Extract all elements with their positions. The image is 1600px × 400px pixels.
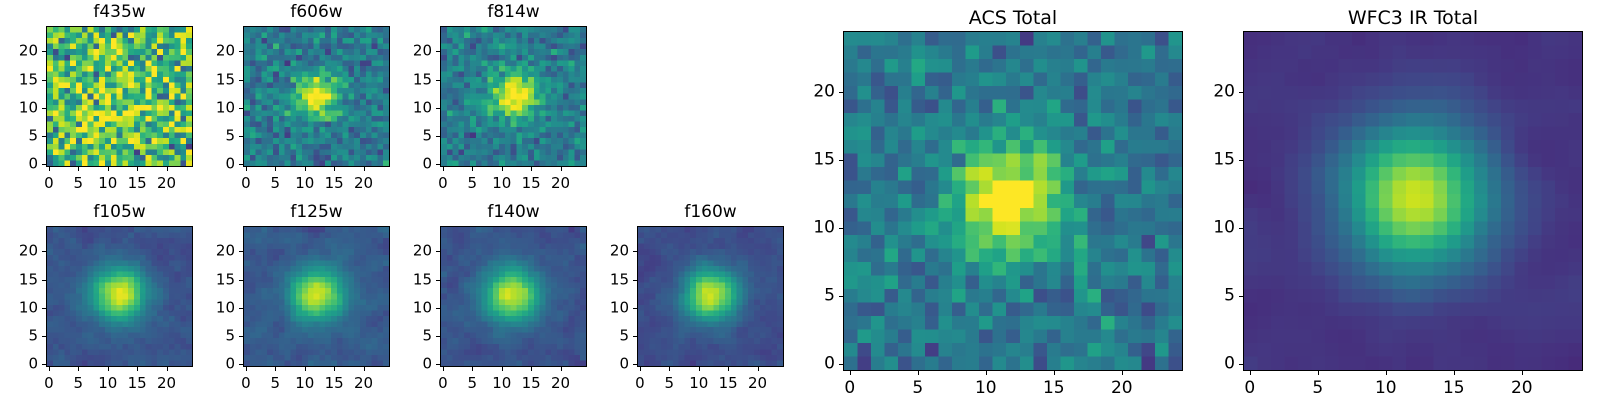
xtick-mark bbox=[728, 367, 729, 371]
xtick-mark bbox=[49, 367, 50, 371]
xtick-label: 20 bbox=[157, 176, 176, 191]
xtick-mark bbox=[1386, 371, 1387, 375]
ytick-mark bbox=[633, 308, 637, 309]
xtick-label: 10 bbox=[492, 376, 511, 391]
panel-title-f140w: f140w bbox=[440, 204, 587, 221]
xtick-label: 0 bbox=[44, 376, 54, 391]
xtick-label: 10 bbox=[492, 176, 511, 191]
ytick-mark bbox=[239, 164, 243, 165]
ytick-label: 0 bbox=[225, 357, 235, 372]
ytick-mark bbox=[42, 80, 46, 81]
ytick-label: 20 bbox=[19, 244, 38, 259]
xtick-mark bbox=[443, 167, 444, 171]
xtick-label: 10 bbox=[1375, 380, 1397, 397]
ytick-mark bbox=[633, 364, 637, 365]
xtick-mark bbox=[108, 367, 109, 371]
xtick-mark bbox=[531, 367, 532, 371]
xtick-mark bbox=[1318, 371, 1319, 375]
xtick-label: 5 bbox=[74, 176, 84, 191]
xtick-label: 0 bbox=[438, 176, 448, 191]
xtick-mark bbox=[850, 371, 851, 375]
ytick-mark bbox=[839, 92, 843, 93]
xtick-mark bbox=[531, 167, 532, 171]
ytick-label: 0 bbox=[28, 157, 38, 172]
xtick-label: 15 bbox=[522, 176, 541, 191]
ytick-mark bbox=[42, 280, 46, 281]
ytick-mark bbox=[42, 136, 46, 137]
xtick-mark bbox=[699, 367, 700, 371]
panel-title-f105w: f105w bbox=[46, 204, 193, 221]
figure-canvas: f435w0510152005101520f606w05101520051015… bbox=[0, 0, 1600, 400]
ytick-mark bbox=[436, 308, 440, 309]
xtick-mark bbox=[108, 167, 109, 171]
xtick-mark bbox=[334, 367, 335, 371]
xtick-label: 20 bbox=[354, 176, 373, 191]
xtick-label: 10 bbox=[689, 376, 708, 391]
xtick-label: 10 bbox=[975, 380, 997, 397]
heatmap-image-f160w bbox=[638, 227, 783, 366]
xtick-mark bbox=[167, 167, 168, 171]
xtick-label: 20 bbox=[157, 376, 176, 391]
xtick-mark bbox=[78, 167, 79, 171]
ytick-mark bbox=[436, 364, 440, 365]
ytick-mark bbox=[436, 108, 440, 109]
ytick-mark bbox=[839, 228, 843, 229]
panel-wfc3-ir-total: WFC3 IR Total0510152005101520 bbox=[1243, 7, 1583, 395]
xtick-mark bbox=[640, 367, 641, 371]
heatmap-axes-f814w[interactable] bbox=[440, 26, 587, 167]
ytick-label: 20 bbox=[19, 44, 38, 59]
panel-f814w: f814w0510152005101520 bbox=[440, 2, 587, 191]
ytick-label: 15 bbox=[216, 72, 235, 87]
panel-title-f160w: f160w bbox=[637, 204, 784, 221]
ytick-label: 10 bbox=[216, 300, 235, 315]
ytick-label: 5 bbox=[619, 328, 629, 343]
xtick-label: 5 bbox=[912, 380, 923, 397]
ytick-label: 10 bbox=[19, 300, 38, 315]
ytick-label: 10 bbox=[413, 100, 432, 115]
xtick-label: 5 bbox=[271, 376, 281, 391]
ytick-mark bbox=[42, 364, 46, 365]
ytick-label: 15 bbox=[413, 272, 432, 287]
xtick-mark bbox=[1250, 371, 1251, 375]
xtick-label: 0 bbox=[635, 376, 645, 391]
heatmap-image-f140w bbox=[441, 227, 586, 366]
xtick-mark bbox=[443, 367, 444, 371]
xtick-label: 10 bbox=[98, 176, 117, 191]
ytick-mark bbox=[436, 251, 440, 252]
panel-title-f125w: f125w bbox=[243, 204, 390, 221]
panel-f435w: f435w0510152005101520 bbox=[46, 2, 193, 191]
xtick-label: 10 bbox=[295, 176, 314, 191]
heatmap-axes-f606w[interactable] bbox=[243, 26, 390, 167]
ytick-label: 5 bbox=[28, 328, 38, 343]
xtick-label: 15 bbox=[128, 376, 147, 391]
heatmap-axes-f160w[interactable] bbox=[637, 226, 784, 367]
ytick-label: 10 bbox=[610, 300, 629, 315]
heatmap-image-f105w bbox=[47, 227, 192, 366]
panel-acs-total: ACS Total0510152005101520 bbox=[843, 7, 1183, 395]
xtick-mark bbox=[986, 371, 987, 375]
xtick-mark bbox=[561, 167, 562, 171]
ytick-label: 0 bbox=[1224, 356, 1235, 373]
heatmap-axes-f435w[interactable] bbox=[46, 26, 193, 167]
ytick-label: 5 bbox=[422, 128, 432, 143]
xtick-mark bbox=[305, 367, 306, 371]
heatmap-axes-wfc3-ir-total[interactable] bbox=[1243, 31, 1583, 371]
ytick-mark bbox=[1239, 160, 1243, 161]
ytick-mark bbox=[1239, 228, 1243, 229]
ytick-mark bbox=[42, 308, 46, 309]
ytick-label: 10 bbox=[1213, 220, 1235, 237]
xtick-mark bbox=[167, 367, 168, 371]
xtick-mark bbox=[364, 367, 365, 371]
xtick-label: 20 bbox=[551, 176, 570, 191]
ytick-mark bbox=[436, 136, 440, 137]
ytick-mark bbox=[839, 296, 843, 297]
heatmap-axes-acs-total[interactable] bbox=[843, 31, 1183, 371]
xtick-label: 0 bbox=[241, 176, 251, 191]
xtick-label: 15 bbox=[522, 376, 541, 391]
panel-f606w: f606w0510152005101520 bbox=[243, 2, 390, 191]
ytick-mark bbox=[239, 80, 243, 81]
ytick-label: 15 bbox=[1213, 152, 1235, 169]
xtick-label: 20 bbox=[354, 376, 373, 391]
ytick-label: 0 bbox=[422, 157, 432, 172]
heatmap-image-wfc3-ir-total bbox=[1244, 32, 1582, 370]
xtick-label: 5 bbox=[271, 176, 281, 191]
xtick-label: 15 bbox=[325, 176, 344, 191]
panel-f140w: f140w0510152005101520 bbox=[440, 202, 587, 391]
xtick-label: 0 bbox=[438, 376, 448, 391]
xtick-label: 20 bbox=[748, 376, 767, 391]
ytick-mark bbox=[42, 51, 46, 52]
xtick-mark bbox=[1522, 371, 1523, 375]
xtick-label: 20 bbox=[1111, 380, 1133, 397]
ytick-label: 15 bbox=[610, 272, 629, 287]
heatmap-axes-f140w[interactable] bbox=[440, 226, 587, 367]
xtick-label: 5 bbox=[1312, 380, 1323, 397]
ytick-mark bbox=[436, 336, 440, 337]
ytick-label: 5 bbox=[824, 288, 835, 305]
xtick-label: 5 bbox=[468, 176, 478, 191]
ytick-mark bbox=[436, 51, 440, 52]
panel-f125w: f125w0510152005101520 bbox=[243, 202, 390, 391]
ytick-mark bbox=[239, 136, 243, 137]
xtick-mark bbox=[1454, 371, 1455, 375]
ytick-label: 5 bbox=[422, 328, 432, 343]
ytick-label: 15 bbox=[413, 72, 432, 87]
xtick-label: 15 bbox=[128, 176, 147, 191]
ytick-mark bbox=[633, 336, 637, 337]
ytick-label: 0 bbox=[824, 356, 835, 373]
ytick-mark bbox=[436, 80, 440, 81]
xtick-mark bbox=[758, 367, 759, 371]
ytick-label: 15 bbox=[813, 152, 835, 169]
xtick-label: 15 bbox=[719, 376, 738, 391]
ytick-mark bbox=[239, 251, 243, 252]
xtick-label: 10 bbox=[98, 376, 117, 391]
xtick-label: 0 bbox=[44, 176, 54, 191]
heatmap-axes-f105w[interactable] bbox=[46, 226, 193, 367]
xtick-mark bbox=[561, 367, 562, 371]
ytick-label: 20 bbox=[813, 84, 835, 101]
xtick-mark bbox=[78, 367, 79, 371]
xtick-label: 5 bbox=[74, 376, 84, 391]
ytick-mark bbox=[436, 280, 440, 281]
ytick-mark bbox=[239, 108, 243, 109]
ytick-label: 10 bbox=[216, 100, 235, 115]
ytick-mark bbox=[42, 108, 46, 109]
ytick-label: 20 bbox=[610, 244, 629, 259]
panel-title-f814w: f814w bbox=[440, 4, 587, 21]
xtick-label: 0 bbox=[844, 380, 855, 397]
ytick-mark bbox=[239, 51, 243, 52]
xtick-mark bbox=[502, 167, 503, 171]
xtick-label: 0 bbox=[241, 376, 251, 391]
ytick-label: 10 bbox=[19, 100, 38, 115]
ytick-mark bbox=[42, 164, 46, 165]
xtick-label: 15 bbox=[1043, 380, 1065, 397]
ytick-mark bbox=[839, 160, 843, 161]
ytick-mark bbox=[42, 251, 46, 252]
ytick-label: 5 bbox=[1224, 288, 1235, 305]
ytick-label: 0 bbox=[422, 357, 432, 372]
ytick-label: 20 bbox=[413, 44, 432, 59]
xtick-label: 5 bbox=[468, 376, 478, 391]
ytick-label: 5 bbox=[28, 128, 38, 143]
xtick-label: 20 bbox=[551, 376, 570, 391]
ytick-mark bbox=[1239, 92, 1243, 93]
xtick-mark bbox=[918, 371, 919, 375]
ytick-label: 0 bbox=[225, 157, 235, 172]
xtick-mark bbox=[472, 367, 473, 371]
ytick-label: 0 bbox=[619, 357, 629, 372]
ytick-label: 10 bbox=[813, 220, 835, 237]
heatmap-image-f606w bbox=[244, 27, 389, 166]
xtick-label: 10 bbox=[295, 376, 314, 391]
xtick-mark bbox=[669, 367, 670, 371]
xtick-label: 5 bbox=[665, 376, 675, 391]
xtick-mark bbox=[275, 167, 276, 171]
ytick-label: 15 bbox=[19, 272, 38, 287]
ytick-mark bbox=[633, 280, 637, 281]
heatmap-image-f814w bbox=[441, 27, 586, 166]
ytick-label: 15 bbox=[216, 272, 235, 287]
ytick-label: 20 bbox=[216, 244, 235, 259]
xtick-mark bbox=[502, 367, 503, 371]
panel-title-f606w: f606w bbox=[243, 4, 390, 21]
ytick-label: 5 bbox=[225, 328, 235, 343]
ytick-mark bbox=[239, 336, 243, 337]
xtick-mark bbox=[246, 167, 247, 171]
ytick-mark bbox=[633, 251, 637, 252]
xtick-mark bbox=[1054, 371, 1055, 375]
ytick-label: 20 bbox=[216, 44, 235, 59]
xtick-mark bbox=[49, 167, 50, 171]
xtick-label: 0 bbox=[1244, 380, 1255, 397]
ytick-label: 20 bbox=[1213, 84, 1235, 101]
ytick-label: 0 bbox=[28, 357, 38, 372]
ytick-mark bbox=[1239, 364, 1243, 365]
ytick-mark bbox=[436, 164, 440, 165]
heatmap-image-f435w bbox=[47, 27, 192, 166]
ytick-mark bbox=[239, 308, 243, 309]
heatmap-image-acs-total bbox=[844, 32, 1182, 370]
heatmap-image-f125w bbox=[244, 227, 389, 366]
xtick-mark bbox=[137, 367, 138, 371]
panel-title-f435w: f435w bbox=[46, 4, 193, 21]
xtick-label: 15 bbox=[325, 376, 344, 391]
panel-f105w: f105w0510152005101520 bbox=[46, 202, 193, 391]
ytick-mark bbox=[239, 280, 243, 281]
xtick-label: 15 bbox=[1443, 380, 1465, 397]
xtick-mark bbox=[137, 167, 138, 171]
ytick-label: 5 bbox=[225, 128, 235, 143]
xtick-mark bbox=[334, 167, 335, 171]
panel-f160w: f160w0510152005101520 bbox=[637, 202, 784, 391]
ytick-label: 15 bbox=[19, 72, 38, 87]
xtick-mark bbox=[472, 167, 473, 171]
ytick-mark bbox=[839, 364, 843, 365]
panel-title-wfc3-ir-total: WFC3 IR Total bbox=[1243, 9, 1583, 28]
xtick-label: 20 bbox=[1511, 380, 1533, 397]
xtick-mark bbox=[305, 167, 306, 171]
ytick-label: 10 bbox=[413, 300, 432, 315]
heatmap-axes-f125w[interactable] bbox=[243, 226, 390, 367]
xtick-mark bbox=[275, 367, 276, 371]
xtick-mark bbox=[246, 367, 247, 371]
xtick-mark bbox=[364, 167, 365, 171]
ytick-mark bbox=[42, 336, 46, 337]
panel-title-acs-total: ACS Total bbox=[843, 9, 1183, 28]
xtick-mark bbox=[1122, 371, 1123, 375]
ytick-mark bbox=[1239, 296, 1243, 297]
ytick-label: 20 bbox=[413, 244, 432, 259]
ytick-mark bbox=[239, 364, 243, 365]
